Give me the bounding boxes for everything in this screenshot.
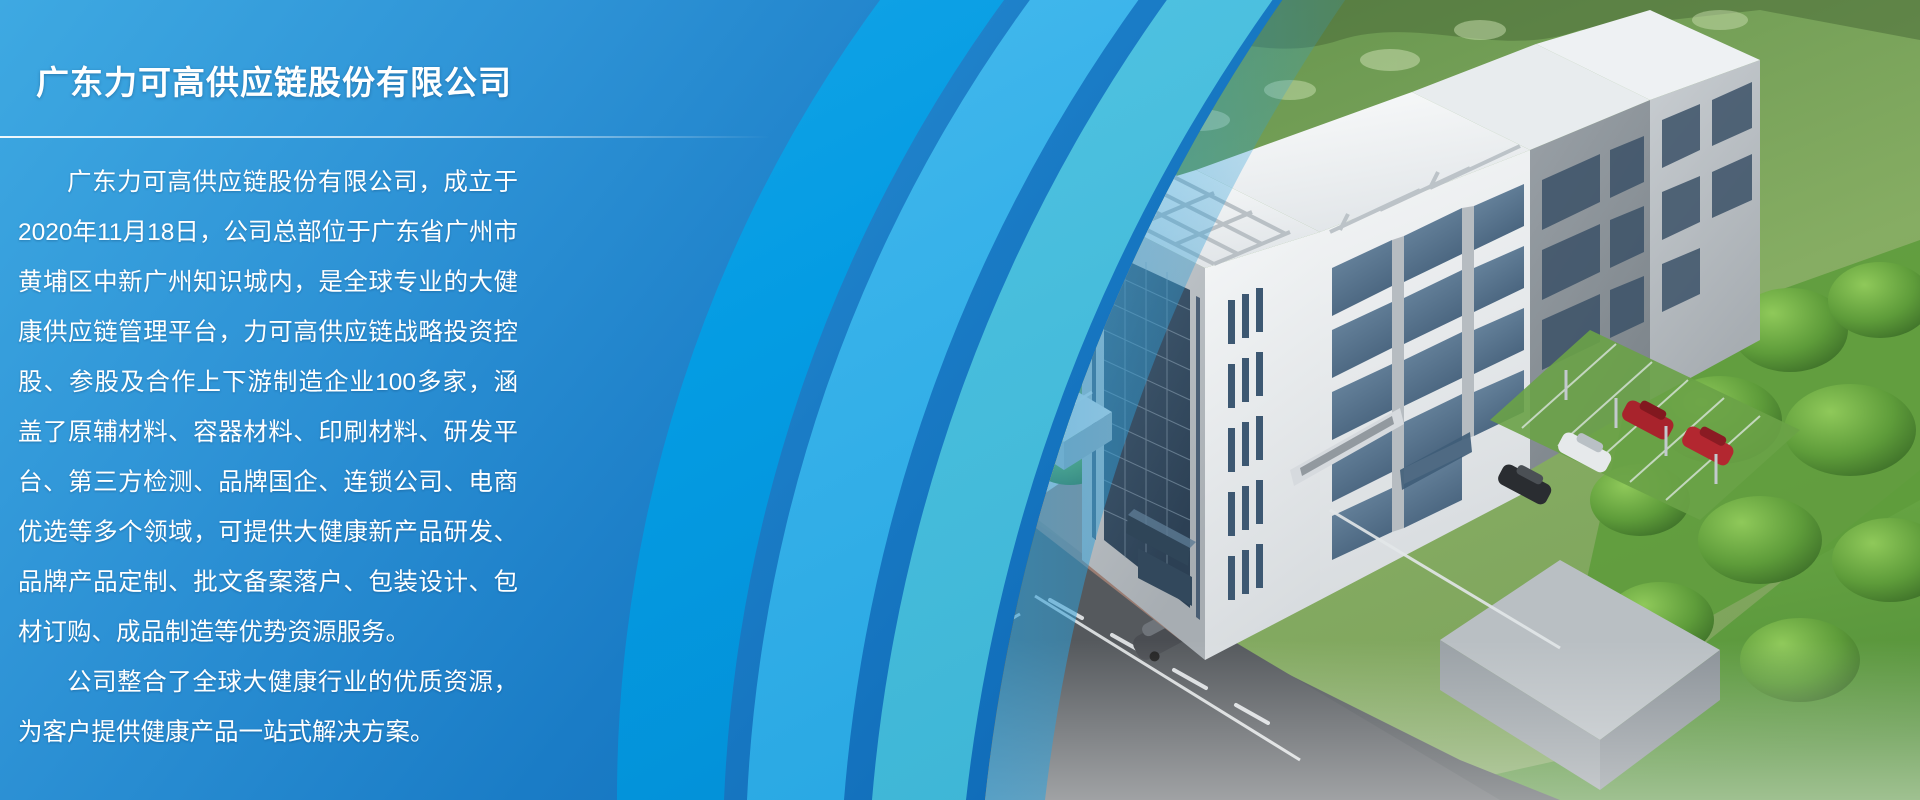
banner-root: 广东力可高供应链股份有限公司 广东力可高供应链股份有限公司，成立于2020年11… <box>0 0 1920 800</box>
photo-bottom-mist <box>940 640 1920 800</box>
title-divider <box>0 136 770 138</box>
paragraph-2: 公司整合了全球大健康行业的优质资源，为客户提供健康产品一站式解决方案。 <box>18 658 518 758</box>
car-red <box>855 504 929 568</box>
company-description: 广东力可高供应链股份有限公司，成立于2020年11月18日，公司总部位于广东省广… <box>18 158 518 758</box>
page-title: 广东力可高供应链股份有限公司 <box>36 56 512 104</box>
text-column: 广东力可高供应链股份有限公司 广东力可高供应链股份有限公司，成立于2020年11… <box>0 0 620 800</box>
photo-clip-group <box>760 0 1920 800</box>
rooftop-equipment <box>1112 196 1154 220</box>
paragraph-1: 广东力可高供应链股份有限公司，成立于2020年11月18日，公司总部位于广东省广… <box>18 158 518 658</box>
